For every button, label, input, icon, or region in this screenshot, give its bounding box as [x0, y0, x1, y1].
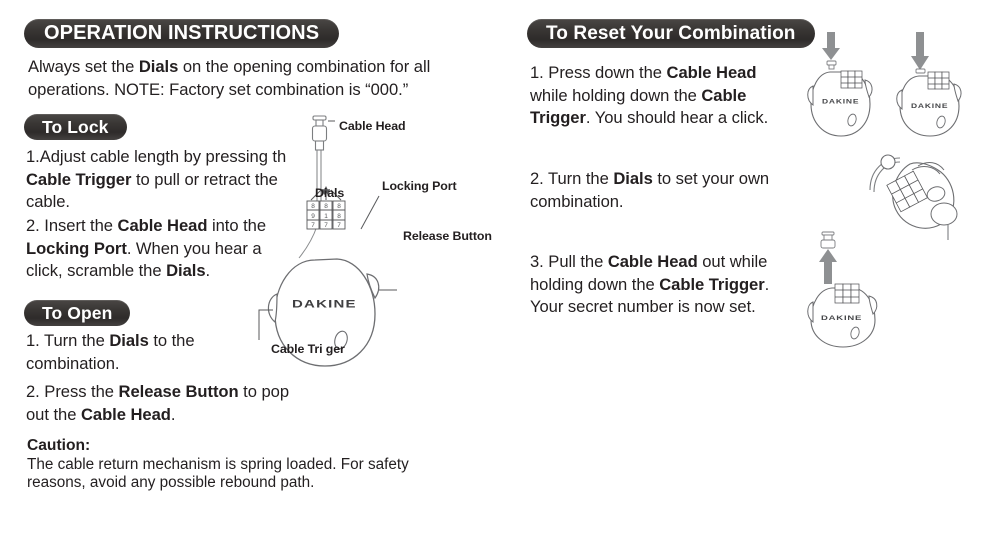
- reset-step3-text-a: 3. Pull the: [530, 252, 608, 271]
- label-cable-trigger: Cable Tri ger: [271, 342, 345, 356]
- reset-step3-bold-cable-trigger: Cable Trigger: [659, 275, 764, 294]
- to-open-heading: To Open: [24, 300, 130, 326]
- dakine-logo: DAKINE: [292, 298, 357, 310]
- reset-step-2: 2. Turn the Dials to set your own combin…: [530, 168, 790, 213]
- reset-step3-bold-cable-head: Cable Head: [608, 252, 698, 271]
- reset-step-1: 1. Press down the Cable Head while holdi…: [530, 62, 792, 130]
- intro-paragraph: Always set the Dials on the opening comb…: [28, 56, 458, 101]
- illustration-turn-dials-hand: [866, 148, 976, 243]
- reset-step1-bold-cable-head: Cable Head: [667, 63, 757, 82]
- open-step2-text-a: 2. Press the: [26, 382, 119, 401]
- open-step2-bold-release-button: Release Button: [119, 382, 239, 401]
- open-step2-text-c: .: [171, 405, 176, 424]
- svg-text:8: 8: [337, 203, 341, 210]
- label-cable-head: Cable Head: [339, 119, 405, 133]
- lock-step2-text-d: .: [206, 261, 211, 280]
- to-lock-heading: To Lock: [24, 114, 127, 140]
- lock-step2-bold-cable-head: Cable Head: [118, 216, 208, 235]
- lock-step1-text-a: 1.Adjust cable length by pressing th: [26, 147, 286, 166]
- to-reset-combination-heading: To Reset Your Combination: [527, 19, 815, 48]
- lock-diagram: 888 918 777 Cable Head Dials Locking Por…: [255, 108, 505, 368]
- intro-text-a: Always set the: [28, 57, 139, 76]
- lock-step2-bold-locking-port: Locking Port: [26, 239, 127, 258]
- reset-step1-text-b: while holding down the: [530, 86, 701, 105]
- operation-instructions-heading: OPERATION INSTRUCTIONS: [24, 19, 339, 48]
- to-lock-step-2: 2. Insert the Cable Head into the Lockin…: [26, 215, 282, 283]
- lock-step2-bold-dials: Dials: [166, 261, 205, 280]
- intro-bold-dials: Dials: [139, 57, 178, 76]
- label-dials: Dials: [315, 186, 344, 200]
- label-release-button: Release Button: [403, 229, 492, 243]
- reset-step1-text-a: 1. Press down the: [530, 63, 667, 82]
- caution-block: Caution: The cable return mechanism is s…: [27, 437, 422, 493]
- lock-step1-bold-cable-trigger: Cable Trigger: [26, 170, 131, 189]
- lock-step2-text-a: 2. Insert the: [26, 216, 118, 235]
- reset-step-3: 3. Pull the Cable Head out while holding…: [530, 251, 788, 319]
- svg-text:8: 8: [311, 203, 315, 210]
- svg-text:8: 8: [324, 203, 328, 210]
- reset-step1-text-c: . You should hear a click.: [586, 108, 768, 127]
- svg-text:DAKINE: DAKINE: [822, 98, 859, 105]
- open-step1-text-a: 1. Turn the: [26, 331, 109, 350]
- reset-step2-text-a: 2. Turn the: [530, 169, 613, 188]
- svg-text:7: 7: [311, 222, 315, 229]
- reset-step2-bold-dials: Dials: [613, 169, 652, 188]
- svg-text:9: 9: [311, 213, 315, 220]
- open-step2-bold-cable-head: Cable Head: [81, 405, 171, 424]
- to-open-step-1: 1. Turn the Dials to the combination.: [26, 330, 256, 375]
- to-open-step-2: 2. Press the Release Button to pop out t…: [26, 381, 298, 426]
- illustration-pull-cable-head-out: DAKINE: [806, 232, 886, 347]
- caution-title: Caution:: [27, 437, 422, 456]
- svg-text:7: 7: [324, 222, 328, 229]
- label-locking-port: Locking Port: [382, 179, 457, 193]
- svg-text:7: 7: [337, 222, 341, 229]
- svg-text:DAKINE: DAKINE: [911, 102, 948, 109]
- svg-text:8: 8: [337, 213, 341, 220]
- svg-text:DAKINE: DAKINE: [821, 314, 862, 321]
- open-step1-bold-dials: Dials: [109, 331, 148, 350]
- svg-text:1: 1: [324, 213, 328, 220]
- illustration-press-cable-head-right: DAKINE: [897, 28, 967, 140]
- illustration-press-cable-head-left: DAKINE: [808, 28, 878, 140]
- caution-text: The cable return mechanism is spring loa…: [27, 456, 422, 493]
